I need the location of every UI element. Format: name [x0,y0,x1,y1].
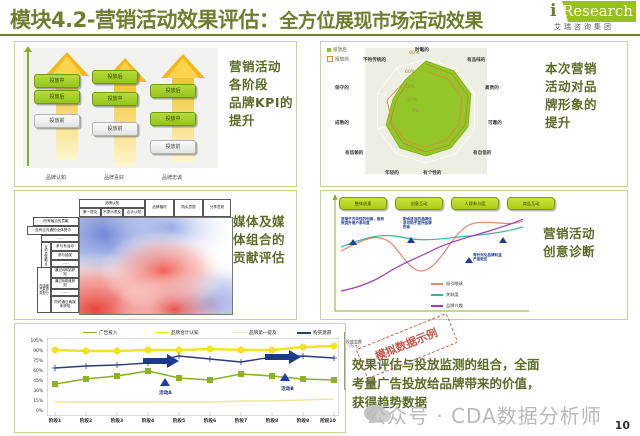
creative-annotation: 配合适当的品牌信 息可助于提升品牌 形象 [403,217,432,229]
col-group-header: 品牌认知 [79,199,145,208]
legend-line-swatch [431,283,443,284]
radar-svg [365,48,487,174]
panel-arrows-caption: 营销活动 各阶段 品牌KPI的 提升 [229,58,293,130]
panel-brand-image-radar: 80% 60% 40% 20% 0% 时髦的 有品味的 高贵的 可靠的 有自信的… [320,41,628,187]
logo-i-letter: i [550,2,556,20]
trend-legend-item: 品牌第一提及 [233,330,277,336]
radar-legend-label: 投放后 [333,48,347,53]
y-axis-tick: 60% [19,369,43,374]
row-header: 所有触点的贡献 [33,217,79,226]
chip-stage: 投放前 [150,140,196,154]
logo-wordmark: Research [562,2,633,21]
sub-col-header: 第一提及 [79,208,101,217]
chip-stage: 投放前 [34,114,80,128]
creative-tag[interactable]: 创意互动 [395,197,443,210]
row-group-header: 互动类 接触点 [41,242,51,270]
creative-annotation: 有针对化品牌利益 产品定位 [473,253,502,261]
chip-stage: 投放前 [92,122,138,136]
arrow-axis-label: 品牌喜好 [89,174,139,181]
arrow-chart-y-axis [27,50,29,166]
col-header: 品牌偏好 [145,199,174,217]
chip-stage: 投放中 [150,112,196,126]
trend-marker-label: 活动A [159,390,172,396]
page-title-sub: 全方位展现市场活动效果 [279,10,483,32]
legend-label: 广告投入 [99,331,117,336]
page-number: 10 [615,419,630,432]
logo-chinese-name: 艾瑞咨询集团 [554,22,614,32]
arrow-head [161,54,205,78]
slide-header: 模块4.2-营销活动效果评估：全方位展现市场活动效果 i Research 艾瑞… [0,0,640,36]
radar-axis-label: 保守的 [335,85,349,91]
chip-stage: 投放中 [34,74,80,88]
legend-line-swatch [155,332,169,334]
chip-stage: 投放后 [34,90,80,104]
creative-tag[interactable]: 整体创意 [339,197,387,210]
row-header: …… [41,235,79,242]
panel-radar-caption: 本次营销 活动对品 牌形象的 提升 [545,60,597,132]
chip-stage: 投放后 [92,70,138,84]
trend-legend-item: 品牌合计认知 [155,330,199,336]
arrow-axis-label: 品牌忠诚 [147,174,197,181]
sub-col-header: 合计认知 [123,208,145,217]
row-header: 通过B频道获知 [51,278,79,289]
y-axis-tick: 90% [19,349,43,354]
row-header: 没有过沟通的全体受众 [27,226,79,235]
radar-ring-label: 60% [405,70,415,75]
radar-axis-label: 成熟的 [335,120,349,126]
slide: 模块4.2-营销活动效果评估：全方位展现市场活动效果 i Research 艾瑞… [0,0,640,436]
row-header: 参与抽奖 [51,251,79,260]
creative-marker-icon [407,237,415,243]
radar-axis-label: 可靠的 [488,120,502,126]
page-title: 模块4.2-营销活动效果评估：全方位展现市场活动效果 [10,4,483,34]
panel-trend-chart: 广告投入 品牌合计认知 品牌第一提及 购买意愿 105% 90% 75% 60%… [14,323,346,433]
legend-label: 关联度 [446,292,459,297]
x-axis-tick: 阶段10 [311,418,345,424]
creative-legend-item: 吸引眼球 [431,281,463,287]
trend-plot-area [47,338,339,416]
creative-tag[interactable]: 商品互动 [507,197,555,210]
creative-marker-icon [465,257,473,263]
sub-col-header: 不提示提及 [101,208,123,217]
legend-line-swatch [83,332,97,334]
col-header: 分享意愿 [203,199,231,217]
y-axis-tick: 105% [19,339,43,344]
creative-legend-item: 关联度 [431,292,459,298]
radar-ring-label: 0% [412,109,419,114]
trend-legend-item: 广告投入 [83,330,117,336]
y-axis-tick: 45% [19,379,43,384]
y-axis-tick: 15% [19,399,43,404]
radar-axis-label: 有品味的 [467,57,485,63]
heatmap-canvas [79,217,233,315]
legend-line-swatch [431,294,443,295]
row-header: …… [51,260,79,267]
radar-legend-swatch [327,48,331,52]
radar-axis-label: 有信赖的 [345,150,363,156]
panel-media-contribution: 品牌认知 第一提及 不提示提及 合计认知 品牌偏好 购买意愿 分享意愿 所有触点… [14,190,297,320]
legend-line-swatch [431,305,443,306]
radar-axis-label: 有自信的 [473,150,491,156]
legend-label: 吸引眼球 [446,281,463,286]
legend-line-swatch [297,332,311,334]
radar-axis-label: 年轻的 [385,170,399,176]
radar-legend-label: 投放前 [335,58,349,63]
radar-legend-item: 投放前 [327,56,349,63]
radar-chart: 80% 60% 40% 20% 0% [365,48,487,174]
panel-heatmap-caption: 媒体及媒 体组合的 贡献评估 [233,213,285,267]
header-divider [0,34,640,36]
arrow-chart: 投放中 投放后 投放前 品牌认知 投放后 投放中 投放前 品牌喜好 投放后 投放… [23,48,218,168]
iresearch-logo: i Research 艾瑞咨询集团 [540,1,636,34]
row-group-header: 在线曝 光渠道 类型分 [37,267,51,313]
trend-legend-item: 购买意愿 [297,330,331,336]
creative-marker-icon [499,237,507,243]
radar-axis-label: 高贵的 [485,85,499,91]
creative-annotation: 适用于方向性的创意，能有 效提升用户参与度 [341,217,384,225]
arrow-axis-label: 品牌认知 [31,174,81,181]
heatmap-table: 品牌认知 第一提及 不提示提及 合计认知 品牌偏好 购买意愿 分享意愿 所有触点… [19,195,231,313]
col-header: 购买意愿 [174,199,203,217]
radar-axis-label: 有个性的 [423,170,441,176]
chip-stage: 投放后 [150,84,196,98]
y-axis-tick: 75% [19,359,43,364]
trend-right-axis-line [344,332,345,390]
trend-marker-label: 活动B [281,386,294,392]
row-header: 同时通过两媒体获知 [51,296,79,313]
row-header: 参与有活动 [51,242,79,251]
y-axis-tick: 0% [19,409,43,414]
radar-ring-label: 20% [407,98,417,103]
creative-legend-item: 品牌兴趣 [431,303,463,309]
creative-tag[interactable]: 人群参与度 [451,197,499,210]
row-header: …… [51,289,79,296]
chip-stage: 投放中 [92,92,138,106]
radar-ring-label: 40% [405,85,415,90]
legend-line-swatch [233,332,247,334]
creative-marker-icon [349,239,357,245]
panel-creative-diagnosis: 整体创意 创意互动 人群参与度 商品互动 适用于方向性的创意，能有 效提升用户参… [320,190,628,320]
legend-label: 品牌合计认知 [171,331,199,336]
panel-brand-kpi-arrows: 投放中 投放后 投放前 品牌认知 投放后 投放中 投放前 品牌喜好 投放后 投放… [14,41,297,187]
radar-axis-label: 时髦的 [415,47,429,53]
watermark-text: 公众号 · CDA数据分析师 [366,400,602,429]
row-header: 通过A网站获知 [51,267,79,278]
radar-legend-item: 投放后 [327,47,347,53]
radar-legend-swatch [327,56,333,62]
legend-label: 品牌第一提及 [249,331,277,336]
radar-axis-label: 不拘传统的 [363,57,386,63]
legend-label: 品牌兴趣 [446,303,463,308]
heatmap-svg [80,218,232,314]
panel-creative-caption: 营销活动 创意诊断 [543,225,595,261]
page-title-main: 模块4.2-营销活动效果评估： [10,8,279,32]
legend-label: 购买意愿 [313,331,331,336]
y-axis-tick: 30% [19,389,43,394]
arrow-head [45,52,89,76]
